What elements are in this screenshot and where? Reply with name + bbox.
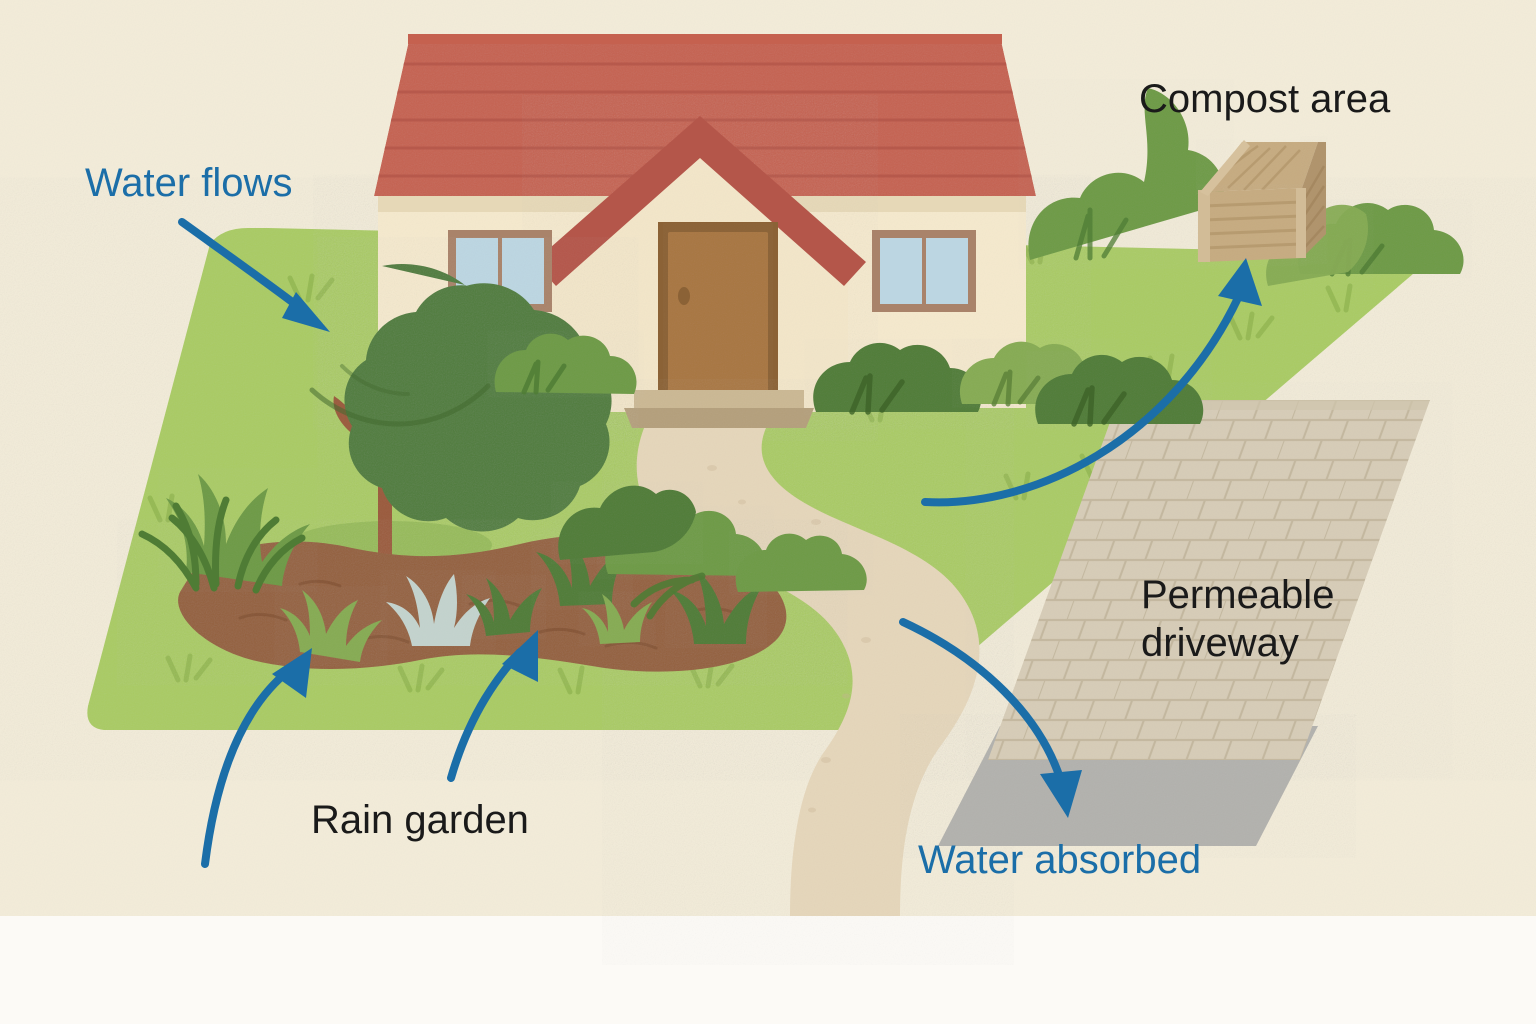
- compost-bin-post-left: [1198, 190, 1210, 262]
- window-right: [872, 230, 976, 312]
- landscape-diagram: Water flows Compost area Permeable drive…: [0, 0, 1536, 1024]
- door-knob-icon[interactable]: [678, 287, 690, 305]
- label-rain-garden: Rain garden: [311, 798, 529, 842]
- label-permeable-driveway-line2: driveway: [1141, 621, 1299, 665]
- porch-step-top: [634, 390, 804, 408]
- door[interactable]: [668, 232, 768, 412]
- label-permeable-driveway-line1: Permeable: [1141, 573, 1334, 617]
- label-compost-area: Compost area: [1139, 77, 1391, 121]
- footer-band: [0, 916, 1536, 1024]
- roof-ridge: [408, 34, 1002, 44]
- label-water-flows: Water flows: [85, 161, 292, 205]
- compost-bin-post-right: [1296, 188, 1306, 258]
- label-water-absorbed: Water absorbed: [918, 838, 1201, 882]
- illustration-canvas: Water flows Compost area Permeable drive…: [0, 0, 1536, 1024]
- porch-step-bottom: [624, 408, 814, 428]
- compost-bin-front: [1202, 188, 1302, 262]
